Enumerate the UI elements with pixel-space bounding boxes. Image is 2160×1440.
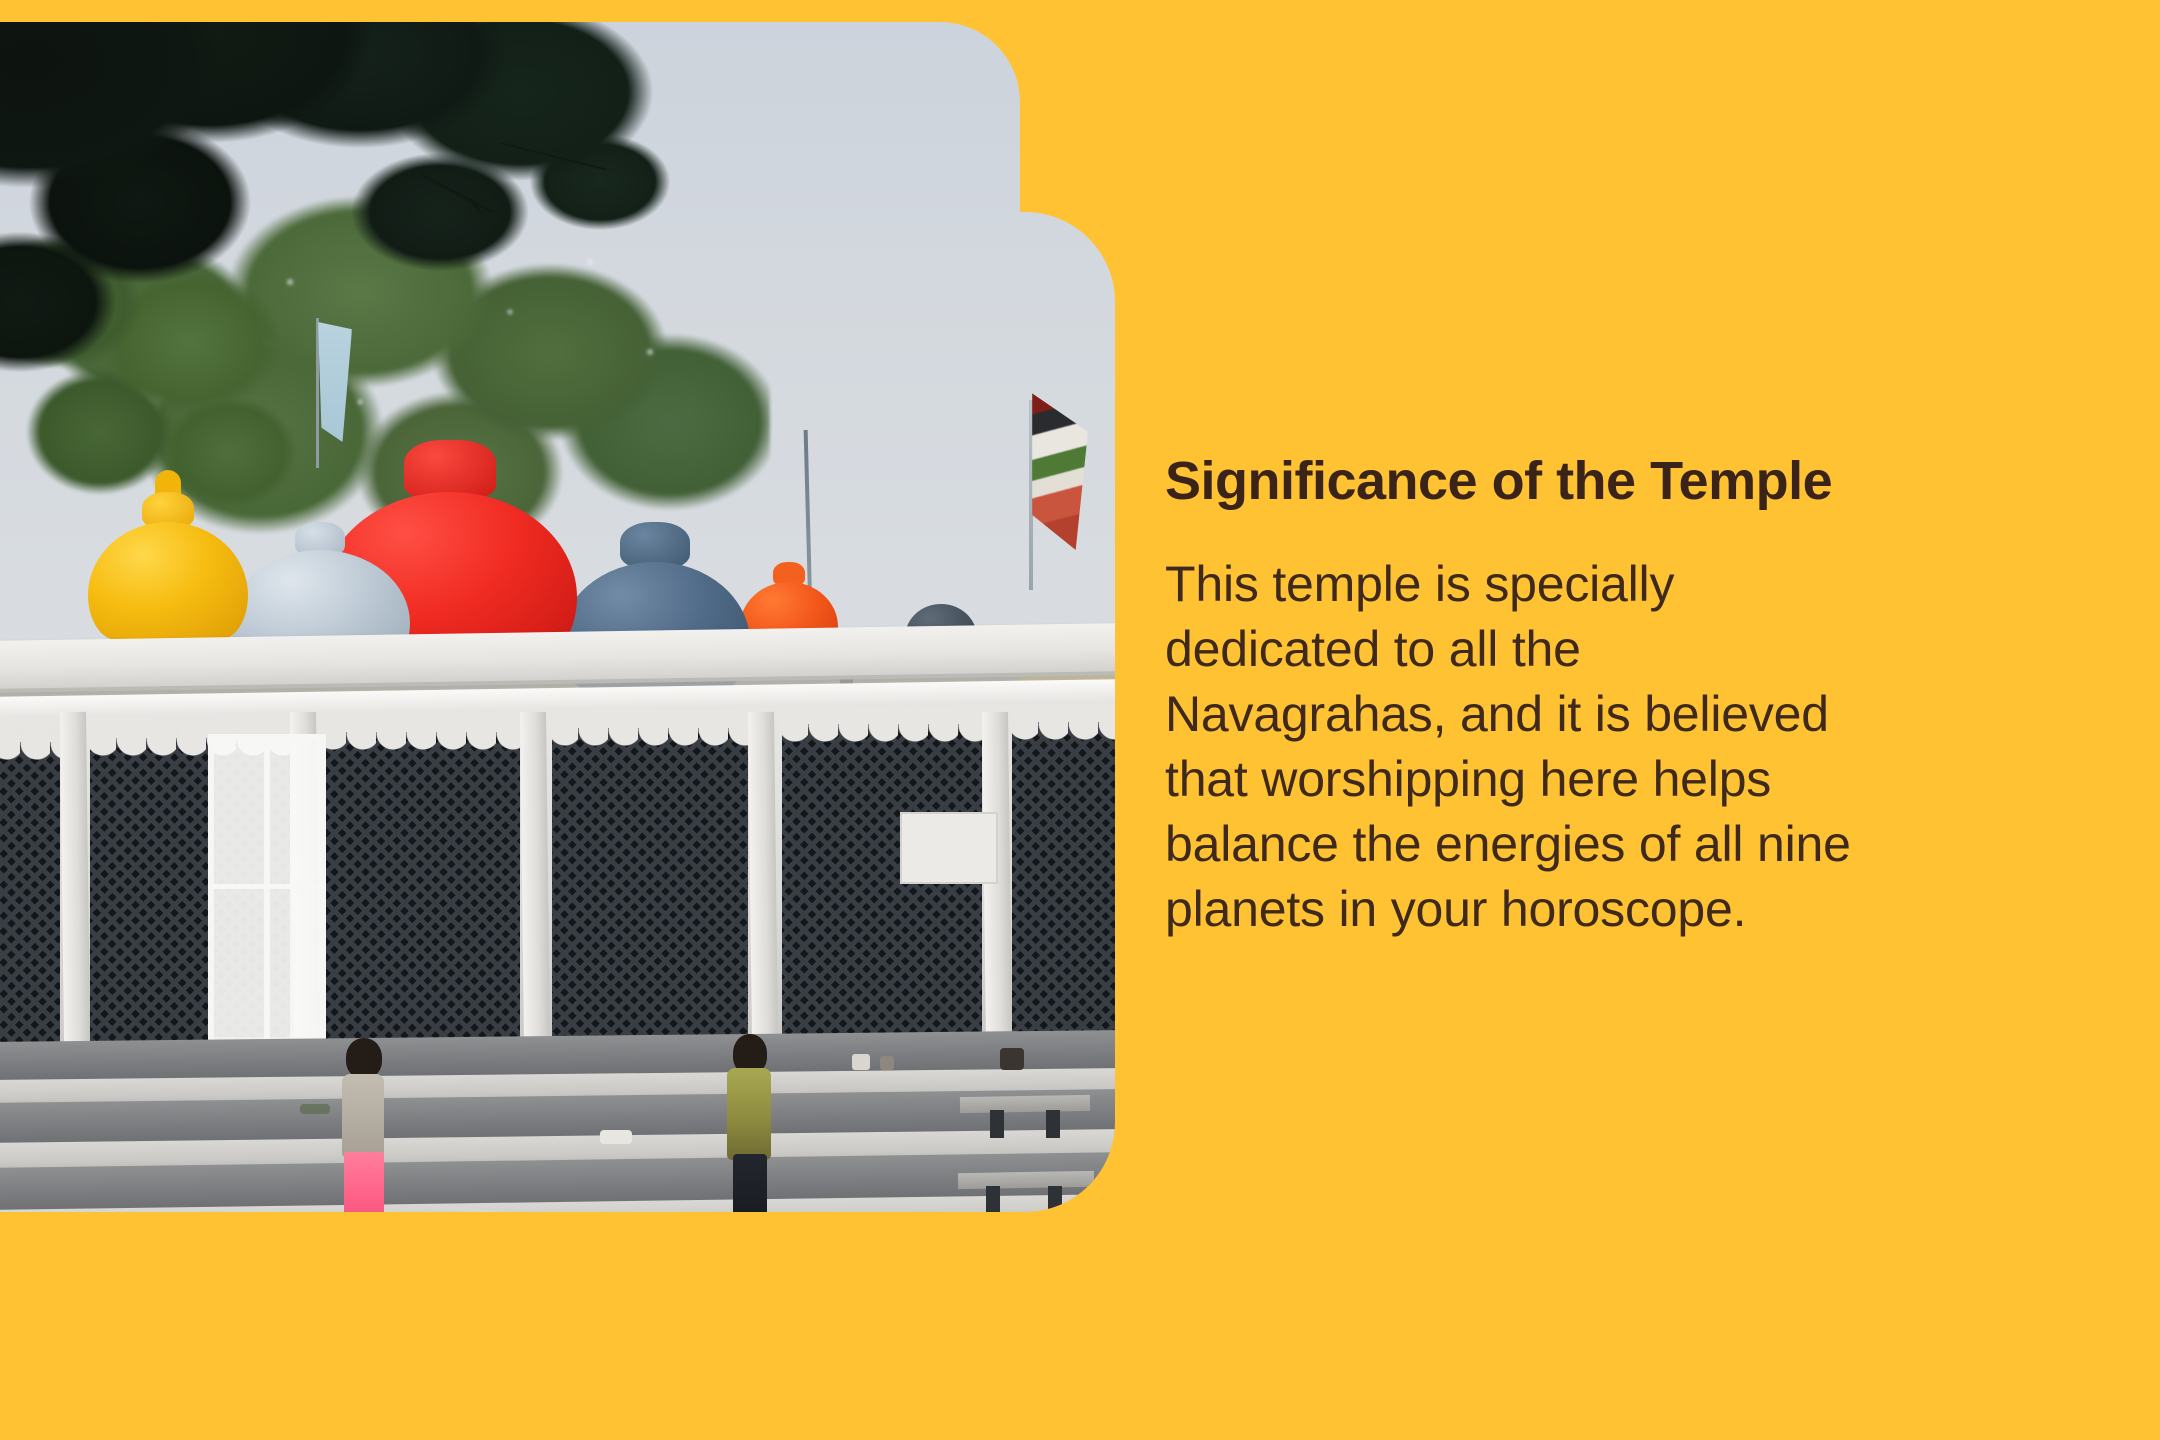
pale-flag-pole (316, 318, 319, 468)
temple-gate[interactable] (208, 734, 326, 1040)
photo-layer-middle (0, 212, 1115, 1212)
small-object (600, 1130, 632, 1144)
pilaster (748, 712, 778, 1042)
bench-leg (1048, 1186, 1062, 1212)
torso (727, 1068, 771, 1160)
small-object (1000, 1048, 1024, 1070)
bench-leg (986, 1186, 1000, 1212)
small-object (300, 1104, 330, 1114)
small-object (852, 1054, 870, 1070)
body-paragraph: This temple is specially dedicated to al… (1165, 552, 1865, 942)
child-right (725, 1034, 773, 1212)
small-object (880, 1056, 894, 1070)
stone-bench (958, 1171, 1094, 1189)
pilaster (520, 712, 550, 1042)
skirt (344, 1152, 384, 1212)
temple-scene-b (0, 212, 1115, 1212)
temple-photo-panel (0, 22, 1115, 1410)
arch-opening (0, 742, 60, 1042)
slide-root: Significance of the Temple This temple i… (0, 0, 2160, 1440)
photo-clip (0, 22, 1115, 1410)
page-title: Significance of the Temple (1165, 452, 2065, 511)
torso (342, 1074, 384, 1158)
tree-canopy (0, 212, 700, 432)
text-column: Significance of the Temple This temple i… (1165, 0, 2105, 1440)
arch-opening (1012, 722, 1115, 1036)
wall-panel (900, 812, 998, 884)
arch-opening (552, 728, 748, 1038)
child-left (340, 1038, 386, 1212)
trousers (733, 1154, 767, 1212)
bench-leg (1046, 1110, 1060, 1138)
pilaster (60, 712, 90, 1042)
head (346, 1038, 382, 1078)
stone-bench (960, 1095, 1090, 1113)
arch-opening (320, 732, 520, 1040)
yellow-dome (88, 522, 248, 640)
bench-leg (990, 1110, 1004, 1138)
